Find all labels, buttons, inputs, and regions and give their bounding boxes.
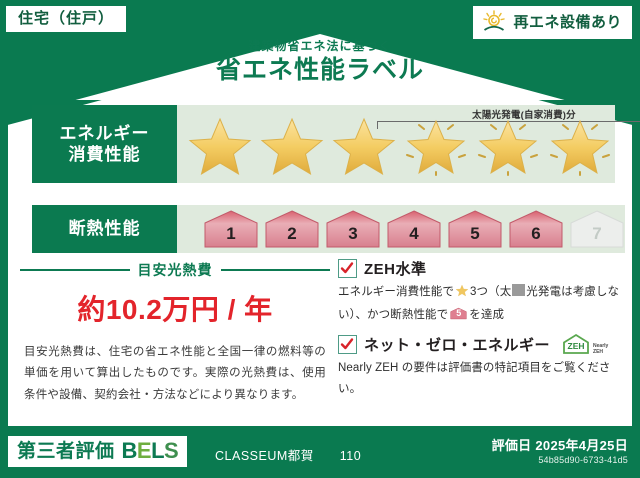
cost-disclaimer-text: 目安光熱費は、住宅の省エネ性能と全国一律の燃料等の単価を用いて算出したものです。… [20,342,330,406]
insulation-level-scale: 1 2 3 4 5 [177,209,625,249]
cost-column: 目安光熱費 約10.2万円 / 年 目安光熱費は、住宅の省エネ性能と全国一律の燃… [20,258,330,408]
net-zero-title: ネット・ゼロ・エネルギー [364,334,550,355]
star-sparkle-icon [473,111,543,177]
energy-row-label: エネルギー 消費性能 [32,105,177,183]
checkbox-checked-icon[interactable] [338,259,357,278]
zeh-house-logo-icon: ZEH Nearly ZEH [561,333,608,355]
bels-wordmark: BELS [122,440,179,462]
cost-rule-left [20,269,130,271]
sun-solar-icon [481,10,507,34]
redacted-character-block [512,284,525,296]
insulation-level-number: 5 [470,224,479,249]
star-icon [257,111,327,177]
insulation-level-badge: 5 [447,209,503,249]
energy-label-line1: エネルギー [60,123,150,144]
evaluation-date: 評価日 2025年4月25日 [492,435,628,454]
energy-star-rating [177,111,615,177]
zeh-standard-block: ZEH水準 エネルギー消費性能で3つ（太光発電は考慮しない）、かつ断熱性能で5を… [338,258,620,325]
housing-type-tag: 住宅（住戸） [6,6,126,32]
title-subtitle: 建築物省エネ法に基づく [0,40,640,53]
zeh-desc-part1: エネルギー消費性能で [338,286,454,298]
insulation-label-text: 断熱性能 [69,218,141,239]
zeh-desc-star-count: 3つ（太 [470,286,511,298]
energy-performance-row: エネルギー 消費性能 太陽光発電(自家消費)分 [32,105,610,183]
star-icon [185,111,255,177]
energy-label-card: 住宅（住戸） 再エネ設備あり 建築物省エネ法に基づく 省エネ性能ラベル [0,0,640,478]
zeh-desc-part3: を達成 [469,309,504,321]
insulation-level-badge-inactive: 7 [569,209,625,249]
star-icon-inline [455,283,469,305]
energy-label-line2: 消費性能 [69,144,141,165]
footer-bar: 第三者評価 BELS CLASSEUM都賀 110 評価日 2025年4月25日… [0,426,640,478]
zeh-logo-sub-line2: ZEH [593,349,603,355]
svg-text:ZEH: ZEH [568,341,585,351]
insulation-level-number: 6 [531,224,540,249]
insulation-level-badge: 2 [264,209,320,249]
insulation-badge-inline-number: 5 [450,305,467,321]
bels-logo: 第三者評価 BELS [8,436,187,467]
building-number: 110 [340,449,361,463]
zeh-standard-title: ZEH水準 [364,258,427,279]
zeh-standard-description: エネルギー消費性能で3つ（太光発電は考慮しない）、かつ断熱性能で5を達成 [338,282,620,325]
insulation-badge-inline: 5 [450,306,467,321]
estimated-cost-value: 約10.2万円 / 年 [20,288,330,328]
renewable-badge-label: 再エネ設備あり [513,15,622,30]
zeh-standard-heading: ZEH水準 [338,258,620,279]
insulation-level-number: 3 [348,224,357,249]
third-party-label: 第三者評価 [17,442,115,461]
insulation-level-number: 4 [409,224,418,249]
star-sparkle-icon [401,111,471,177]
insulation-level-badge: 1 [203,209,259,249]
renewable-equipment-badge: 再エネ設備あり [473,6,632,39]
net-zero-heading: ネット・ゼロ・エネルギー ZEH Nearly ZEH [338,333,620,355]
net-zero-block: ネット・ゼロ・エネルギー ZEH Nearly ZEH Nearly ZEH の… [338,333,620,399]
insulation-row-body: 1 2 3 4 5 [177,205,625,253]
lower-content: 目安光熱費 約10.2万円 / 年 目安光熱費は、住宅の省エネ性能と全国一律の燃… [20,258,620,408]
page-title: 省エネ性能ラベル [0,57,640,85]
cost-heading-text: 目安光熱費 [138,260,213,280]
net-zero-description: Nearly ZEH の要件は評価書の特記項目をご覧ください。 [338,358,620,399]
insulation-level-badge: 3 [325,209,381,249]
cost-heading: 目安光熱費 [20,260,330,280]
building-name: CLASSEUM都賀 [215,449,314,463]
building-info: CLASSEUM都賀 110 [215,445,361,464]
energy-row-body: 太陽光発電(自家消費)分 [177,105,615,183]
title-block: 建築物省エネ法に基づく 省エネ性能ラベル [0,40,640,85]
star-icon [329,111,399,177]
insulation-level-number: 1 [226,224,235,249]
star-sparkle-icon [545,111,615,177]
cost-rule-right [221,269,331,271]
zeh-logo-subtext: Nearly ZEH [593,344,608,355]
insulation-row-label: 断熱性能 [32,205,177,253]
insulation-level-number: 7 [592,224,601,249]
insulation-performance-row: 断熱性能 1 2 3 4 [32,205,610,253]
zeh-column: ZEH水準 エネルギー消費性能で3つ（太光発電は考慮しない）、かつ断熱性能で5を… [330,258,620,408]
checkbox-checked-icon[interactable] [338,335,357,354]
insulation-level-badge: 6 [508,209,564,249]
insulation-level-badge: 4 [386,209,442,249]
insulation-level-number: 2 [287,224,296,249]
evaluation-uid: 54b85d90-6733-41d5 [538,455,628,465]
